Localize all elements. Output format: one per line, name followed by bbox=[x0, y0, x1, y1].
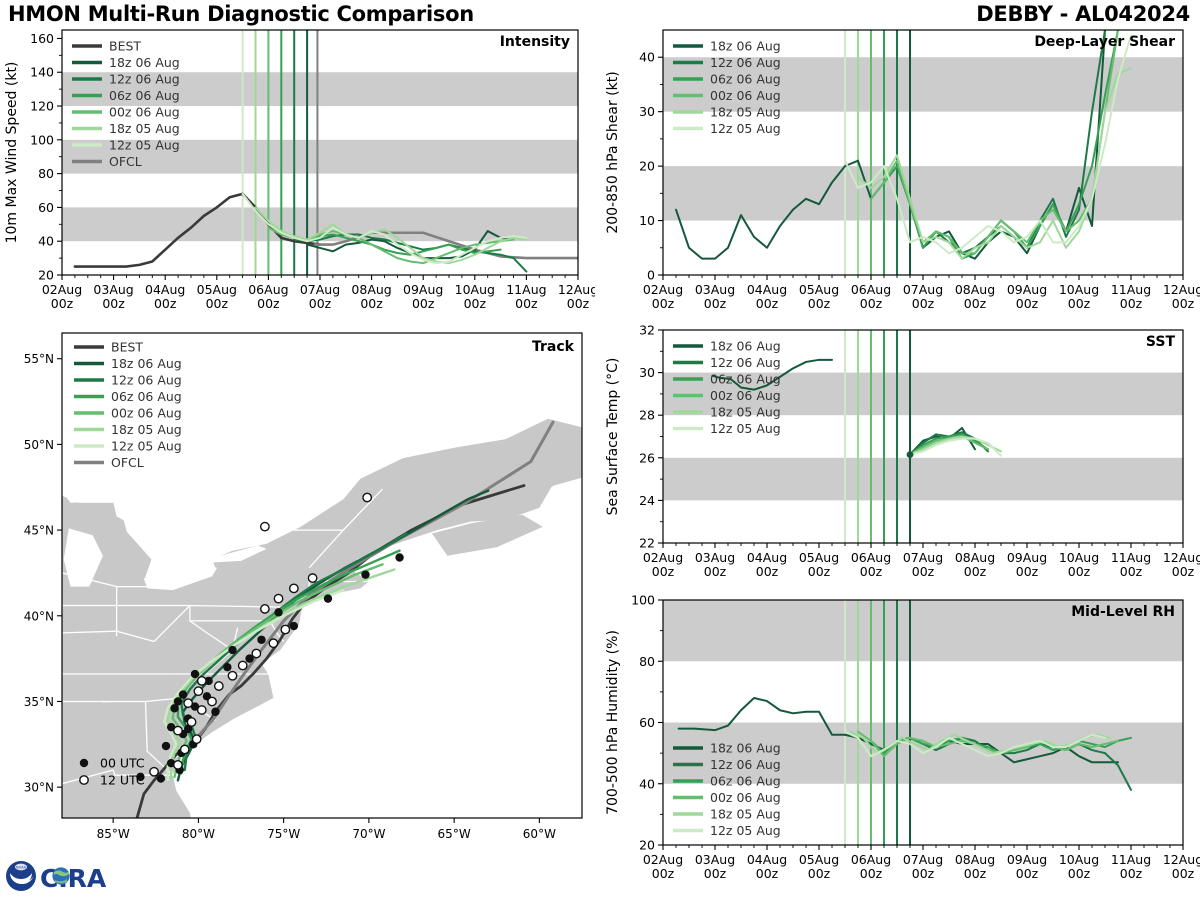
x-tick-label: 06Aug bbox=[851, 282, 891, 297]
y-tick-label: 40 bbox=[38, 234, 54, 249]
lon-tick-label: 85°W bbox=[97, 827, 130, 841]
cira-noaa-logo: NOAA CIRA bbox=[4, 856, 132, 898]
legend-label: OFCL bbox=[109, 154, 142, 169]
x-tick-label: 03Aug bbox=[93, 282, 133, 297]
track-marker-00utc bbox=[162, 742, 170, 750]
legend-label: 06z 06 Aug bbox=[109, 88, 180, 103]
x-tick-label: 09Aug bbox=[1007, 852, 1047, 867]
y-tick-label: 22 bbox=[639, 536, 655, 551]
lat-tick-label: 50°N bbox=[24, 438, 54, 452]
x-tick-sublabel: 00z bbox=[1120, 564, 1143, 579]
y-tick-label: 20 bbox=[38, 268, 54, 283]
x-tick-label: 07Aug bbox=[903, 282, 943, 297]
track-marker-12utc bbox=[261, 605, 269, 613]
track-marker-12utc bbox=[192, 735, 200, 743]
x-tick-sublabel: 00z bbox=[1172, 296, 1195, 311]
legend-label: 18z 05 Aug bbox=[710, 405, 781, 420]
x-tick-sublabel: 00z bbox=[860, 866, 883, 881]
y-tick-label: 32 bbox=[639, 323, 655, 338]
y-tick-label: 30 bbox=[639, 365, 655, 380]
legend-label: 12z 05 Aug bbox=[710, 421, 781, 436]
legend-label: 18z 05 Aug bbox=[111, 422, 182, 437]
marker-legend-00utc-label: 00 UTC bbox=[100, 756, 145, 771]
legend-label: 18z 06 Aug bbox=[109, 55, 180, 70]
y-tick-label: 100 bbox=[631, 593, 655, 608]
legend-label: 00z 06 Aug bbox=[710, 790, 781, 805]
y-axis-label: 200-850 hPa Shear (kt) bbox=[605, 71, 621, 233]
y-tick-label: 28 bbox=[639, 408, 655, 423]
legend-label: 00z 06 Aug bbox=[109, 105, 180, 120]
data-point bbox=[907, 451, 914, 458]
x-tick-label: 10Aug bbox=[1059, 282, 1099, 297]
sst-svg: 22242628303202Aug00z03Aug00z04Aug00z05Au… bbox=[595, 322, 1200, 592]
landmass bbox=[219, 839, 250, 851]
x-tick-sublabel: 00z bbox=[206, 296, 229, 311]
x-tick-label: 11Aug bbox=[1111, 550, 1151, 565]
legend-label: BEST bbox=[111, 340, 143, 355]
x-tick-label: 12Aug bbox=[1163, 550, 1200, 565]
x-tick-sublabel: 00z bbox=[102, 296, 125, 311]
legend-label: OFCL bbox=[111, 455, 144, 470]
legend-label: 18z 05 Aug bbox=[109, 121, 180, 136]
lat-tick-label: 45°N bbox=[24, 524, 54, 538]
track-marker-12utc bbox=[174, 761, 182, 769]
track-marker-12utc bbox=[184, 699, 192, 707]
legend-label: 18z 06 Aug bbox=[710, 339, 781, 354]
lon-tick-label: 70°W bbox=[352, 827, 385, 841]
x-tick-label: 02Aug bbox=[643, 852, 683, 867]
track-marker-12utc bbox=[274, 594, 282, 602]
x-tick-sublabel: 00z bbox=[912, 564, 935, 579]
x-tick-sublabel: 00z bbox=[808, 866, 831, 881]
track-marker-00utc bbox=[290, 622, 298, 630]
track-marker-12utc bbox=[174, 726, 182, 734]
track-marker-00utc bbox=[395, 553, 403, 561]
x-tick-sublabel: 00z bbox=[1068, 866, 1091, 881]
x-tick-label: 07Aug bbox=[903, 852, 943, 867]
x-tick-sublabel: 00z bbox=[964, 564, 987, 579]
x-tick-sublabel: 00z bbox=[1172, 866, 1195, 881]
x-tick-label: 12Aug bbox=[1163, 282, 1200, 297]
x-tick-label: 10Aug bbox=[1059, 852, 1099, 867]
track-marker-12utc bbox=[239, 661, 247, 669]
marker-legend-12utc-icon bbox=[80, 776, 88, 784]
panel-title: Deep-Layer Shear bbox=[1034, 34, 1175, 50]
x-tick-label: 02Aug bbox=[42, 282, 82, 297]
track-marker-12utc bbox=[363, 493, 371, 501]
y-tick-label: 140 bbox=[30, 65, 54, 80]
x-tick-sublabel: 00z bbox=[412, 296, 435, 311]
rh-svg: 2040608010002Aug00z03Aug00z04Aug00z05Aug… bbox=[595, 592, 1200, 897]
lat-tick-label: 30°N bbox=[24, 781, 54, 795]
x-tick-sublabel: 00z bbox=[1068, 296, 1091, 311]
x-tick-sublabel: 00z bbox=[360, 296, 383, 311]
x-tick-label: 10Aug bbox=[455, 282, 495, 297]
x-tick-label: 04Aug bbox=[747, 282, 787, 297]
track-marker-12utc bbox=[290, 584, 298, 592]
lat-tick-label: 55°N bbox=[24, 352, 54, 366]
y-axis-label: 10m Max Wind Speed (kt) bbox=[4, 62, 20, 244]
x-tick-sublabel: 00z bbox=[154, 296, 177, 311]
x-tick-sublabel: 00z bbox=[1016, 866, 1039, 881]
y-tick-label: 40 bbox=[639, 50, 655, 65]
x-tick-sublabel: 00z bbox=[704, 866, 727, 881]
legend-label: 00z 06 Aug bbox=[111, 406, 182, 421]
y-tick-label: 120 bbox=[30, 99, 54, 114]
legend-label: 00z 06 Aug bbox=[710, 388, 781, 403]
legend-label: 06z 06 Aug bbox=[111, 389, 182, 404]
x-tick-sublabel: 00z bbox=[756, 866, 779, 881]
x-tick-sublabel: 00z bbox=[309, 296, 332, 311]
legend-label: 12z 05 Aug bbox=[111, 439, 182, 454]
y-tick-label: 26 bbox=[639, 450, 655, 465]
x-tick-label: 12Aug bbox=[558, 282, 595, 297]
track-marker-12utc bbox=[281, 625, 289, 633]
shaded-band bbox=[663, 458, 1183, 501]
y-tick-label: 20 bbox=[639, 159, 655, 174]
figure-canvas: HMON Multi-Run Diagnostic Comparison DEB… bbox=[0, 0, 1200, 900]
x-tick-label: 11Aug bbox=[1111, 282, 1151, 297]
x-tick-sublabel: 00z bbox=[964, 296, 987, 311]
x-tick-sublabel: 00z bbox=[808, 296, 831, 311]
legend-label: 18z 06 Aug bbox=[710, 741, 781, 756]
x-tick-sublabel: 00z bbox=[912, 866, 935, 881]
x-tick-label: 02Aug bbox=[643, 282, 683, 297]
track-marker-12utc bbox=[228, 672, 236, 680]
track-marker-12utc bbox=[208, 697, 216, 705]
legend-label: 12z 06 Aug bbox=[710, 55, 781, 70]
track-marker-12utc bbox=[261, 522, 269, 530]
legend-label: 06z 06 Aug bbox=[710, 372, 781, 387]
y-tick-label: 100 bbox=[30, 132, 54, 147]
x-tick-label: 05Aug bbox=[799, 550, 839, 565]
track-marker-12utc bbox=[215, 682, 223, 690]
track-marker-12utc bbox=[194, 687, 202, 695]
x-tick-label: 12Aug bbox=[1163, 852, 1200, 867]
track-marker-00utc bbox=[174, 697, 182, 705]
track-marker-00utc bbox=[191, 670, 199, 678]
x-tick-sublabel: 00z bbox=[860, 296, 883, 311]
y-axis-label: 700-500 hPa Humidity (%) bbox=[605, 630, 621, 815]
y-tick-label: 30 bbox=[639, 104, 655, 119]
x-tick-label: 11Aug bbox=[506, 282, 546, 297]
legend-label: 06z 06 Aug bbox=[710, 72, 781, 87]
legend-label: 18z 05 Aug bbox=[710, 105, 781, 120]
track-marker-00utc bbox=[157, 774, 165, 782]
x-tick-label: 04Aug bbox=[145, 282, 185, 297]
x-tick-label: 05Aug bbox=[197, 282, 237, 297]
y-tick-label: 160 bbox=[30, 31, 54, 46]
legend-label: 12z 06 Aug bbox=[109, 72, 180, 87]
x-tick-label: 04Aug bbox=[747, 550, 787, 565]
y-axis-label: Sea Surface Temp (°C) bbox=[605, 358, 621, 516]
svg-text:NOAA: NOAA bbox=[16, 866, 27, 870]
track-marker-12utc bbox=[308, 574, 316, 582]
x-tick-sublabel: 00z bbox=[756, 564, 779, 579]
x-tick-label: 10Aug bbox=[1059, 550, 1099, 565]
legend-label: BEST bbox=[109, 39, 141, 54]
track-marker-12utc bbox=[181, 745, 189, 753]
x-tick-label: 09Aug bbox=[1007, 550, 1047, 565]
y-tick-label: 60 bbox=[639, 715, 655, 730]
x-tick-label: 09Aug bbox=[1007, 282, 1047, 297]
x-tick-sublabel: 00z bbox=[704, 296, 727, 311]
x-tick-sublabel: 00z bbox=[756, 296, 779, 311]
x-tick-label: 06Aug bbox=[851, 852, 891, 867]
x-tick-sublabel: 00z bbox=[704, 564, 727, 579]
lon-tick-label: 60°W bbox=[523, 827, 556, 841]
panel-rh: 2040608010002Aug00z03Aug00z04Aug00z05Aug… bbox=[595, 592, 1200, 897]
marker-legend-00utc-icon bbox=[80, 759, 88, 767]
legend-label: 12z 06 Aug bbox=[111, 373, 182, 388]
legend-label: 12z 05 Aug bbox=[710, 823, 781, 838]
x-tick-label: 11Aug bbox=[1111, 852, 1151, 867]
intensity-svg: 2040608010012014016002Aug00z03Aug00z04Au… bbox=[0, 22, 595, 327]
lon-tick-label: 80°W bbox=[182, 827, 215, 841]
x-tick-label: 02Aug bbox=[643, 550, 683, 565]
legend-label: 18z 06 Aug bbox=[111, 356, 182, 371]
x-tick-label: 05Aug bbox=[799, 852, 839, 867]
x-tick-sublabel: 00z bbox=[1016, 296, 1039, 311]
track-marker-00utc bbox=[179, 690, 187, 698]
legend-label: 12z 05 Aug bbox=[710, 121, 781, 136]
x-tick-sublabel: 00z bbox=[464, 296, 487, 311]
lon-tick-label: 75°W bbox=[267, 827, 300, 841]
x-tick-sublabel: 00z bbox=[1068, 564, 1091, 579]
x-tick-sublabel: 00z bbox=[1120, 866, 1143, 881]
x-tick-label: 05Aug bbox=[799, 282, 839, 297]
legend-label: 18z 06 Aug bbox=[710, 39, 781, 54]
track-marker-12utc bbox=[269, 639, 277, 647]
track-marker-00utc bbox=[211, 708, 219, 716]
lat-tick-label: 40°N bbox=[24, 609, 54, 623]
legend-label: 18z 05 Aug bbox=[710, 807, 781, 822]
track-marker-00utc bbox=[257, 636, 265, 644]
x-tick-sublabel: 00z bbox=[1016, 564, 1039, 579]
panel-title: Track bbox=[532, 339, 575, 355]
y-tick-label: 40 bbox=[639, 776, 655, 791]
track-marker-00utc bbox=[274, 608, 282, 616]
x-tick-label: 08Aug bbox=[955, 852, 995, 867]
x-tick-sublabel: 00z bbox=[51, 296, 74, 311]
track-marker-00utc bbox=[223, 663, 231, 671]
track-marker-00utc bbox=[228, 646, 236, 654]
x-tick-label: 03Aug bbox=[695, 282, 735, 297]
panel-sst: 22242628303202Aug00z03Aug00z04Aug00z05Au… bbox=[595, 322, 1200, 592]
x-tick-sublabel: 00z bbox=[652, 296, 675, 311]
panel-title: Intensity bbox=[500, 34, 570, 50]
y-tick-label: 24 bbox=[639, 493, 655, 508]
x-tick-sublabel: 00z bbox=[860, 564, 883, 579]
x-tick-sublabel: 00z bbox=[567, 296, 590, 311]
legend-label: 12z 06 Aug bbox=[710, 757, 781, 772]
legend-label: 12z 05 Aug bbox=[109, 138, 180, 153]
x-tick-label: 03Aug bbox=[695, 852, 735, 867]
x-tick-label: 08Aug bbox=[351, 282, 391, 297]
x-tick-label: 06Aug bbox=[851, 550, 891, 565]
y-tick-label: 80 bbox=[38, 166, 54, 181]
track-svg: 30°N35°N40°N45°N50°N55°N85°W80°W75°W70°W… bbox=[0, 325, 595, 855]
panel-title: SST bbox=[1146, 334, 1176, 350]
x-tick-sublabel: 00z bbox=[964, 866, 987, 881]
x-tick-sublabel: 00z bbox=[515, 296, 538, 311]
x-tick-sublabel: 00z bbox=[652, 564, 675, 579]
track-marker-12utc bbox=[187, 718, 195, 726]
x-tick-label: 08Aug bbox=[955, 550, 995, 565]
legend-label: 00z 06 Aug bbox=[710, 88, 781, 103]
panel-shear: 01020304002Aug00z03Aug00z04Aug00z05Aug00… bbox=[595, 22, 1200, 327]
marker-legend-12utc-label: 12 UTC bbox=[100, 773, 145, 788]
y-tick-label: 20 bbox=[639, 838, 655, 853]
x-tick-sublabel: 00z bbox=[257, 296, 280, 311]
lat-tick-label: 35°N bbox=[24, 695, 54, 709]
x-tick-sublabel: 00z bbox=[1172, 564, 1195, 579]
y-tick-label: 60 bbox=[38, 200, 54, 215]
lon-tick-label: 65°W bbox=[438, 827, 471, 841]
panel-track: 30°N35°N40°N45°N50°N55°N85°W80°W75°W70°W… bbox=[0, 325, 595, 855]
legend-label: 12z 06 Aug bbox=[710, 355, 781, 370]
track-marker-12utc bbox=[252, 649, 260, 657]
x-tick-sublabel: 00z bbox=[912, 296, 935, 311]
x-tick-label: 04Aug bbox=[747, 852, 787, 867]
x-tick-label: 09Aug bbox=[403, 282, 443, 297]
y-tick-label: 10 bbox=[639, 213, 655, 228]
x-tick-sublabel: 00z bbox=[808, 564, 831, 579]
x-tick-label: 03Aug bbox=[695, 550, 735, 565]
y-tick-label: 80 bbox=[639, 654, 655, 669]
track-marker-12utc bbox=[198, 677, 206, 685]
x-tick-sublabel: 00z bbox=[1120, 296, 1143, 311]
shear-svg: 01020304002Aug00z03Aug00z04Aug00z05Aug00… bbox=[595, 22, 1200, 327]
track-marker-00utc bbox=[361, 570, 369, 578]
shaded-band bbox=[663, 166, 1183, 220]
svg-text:CIRA: CIRA bbox=[40, 864, 107, 893]
panel-title: Mid-Level RH bbox=[1071, 604, 1175, 620]
y-tick-label: 0 bbox=[647, 268, 655, 283]
track-marker-12utc bbox=[198, 706, 206, 714]
x-tick-label: 08Aug bbox=[955, 282, 995, 297]
track-marker-00utc bbox=[324, 594, 332, 602]
x-tick-sublabel: 00z bbox=[652, 866, 675, 881]
x-tick-label: 07Aug bbox=[903, 550, 943, 565]
panel-intensity: 2040608010012014016002Aug00z03Aug00z04Au… bbox=[0, 22, 595, 327]
x-tick-label: 07Aug bbox=[300, 282, 340, 297]
track-marker-12utc bbox=[150, 768, 158, 776]
x-tick-label: 06Aug bbox=[248, 282, 288, 297]
legend-label: 06z 06 Aug bbox=[710, 774, 781, 789]
